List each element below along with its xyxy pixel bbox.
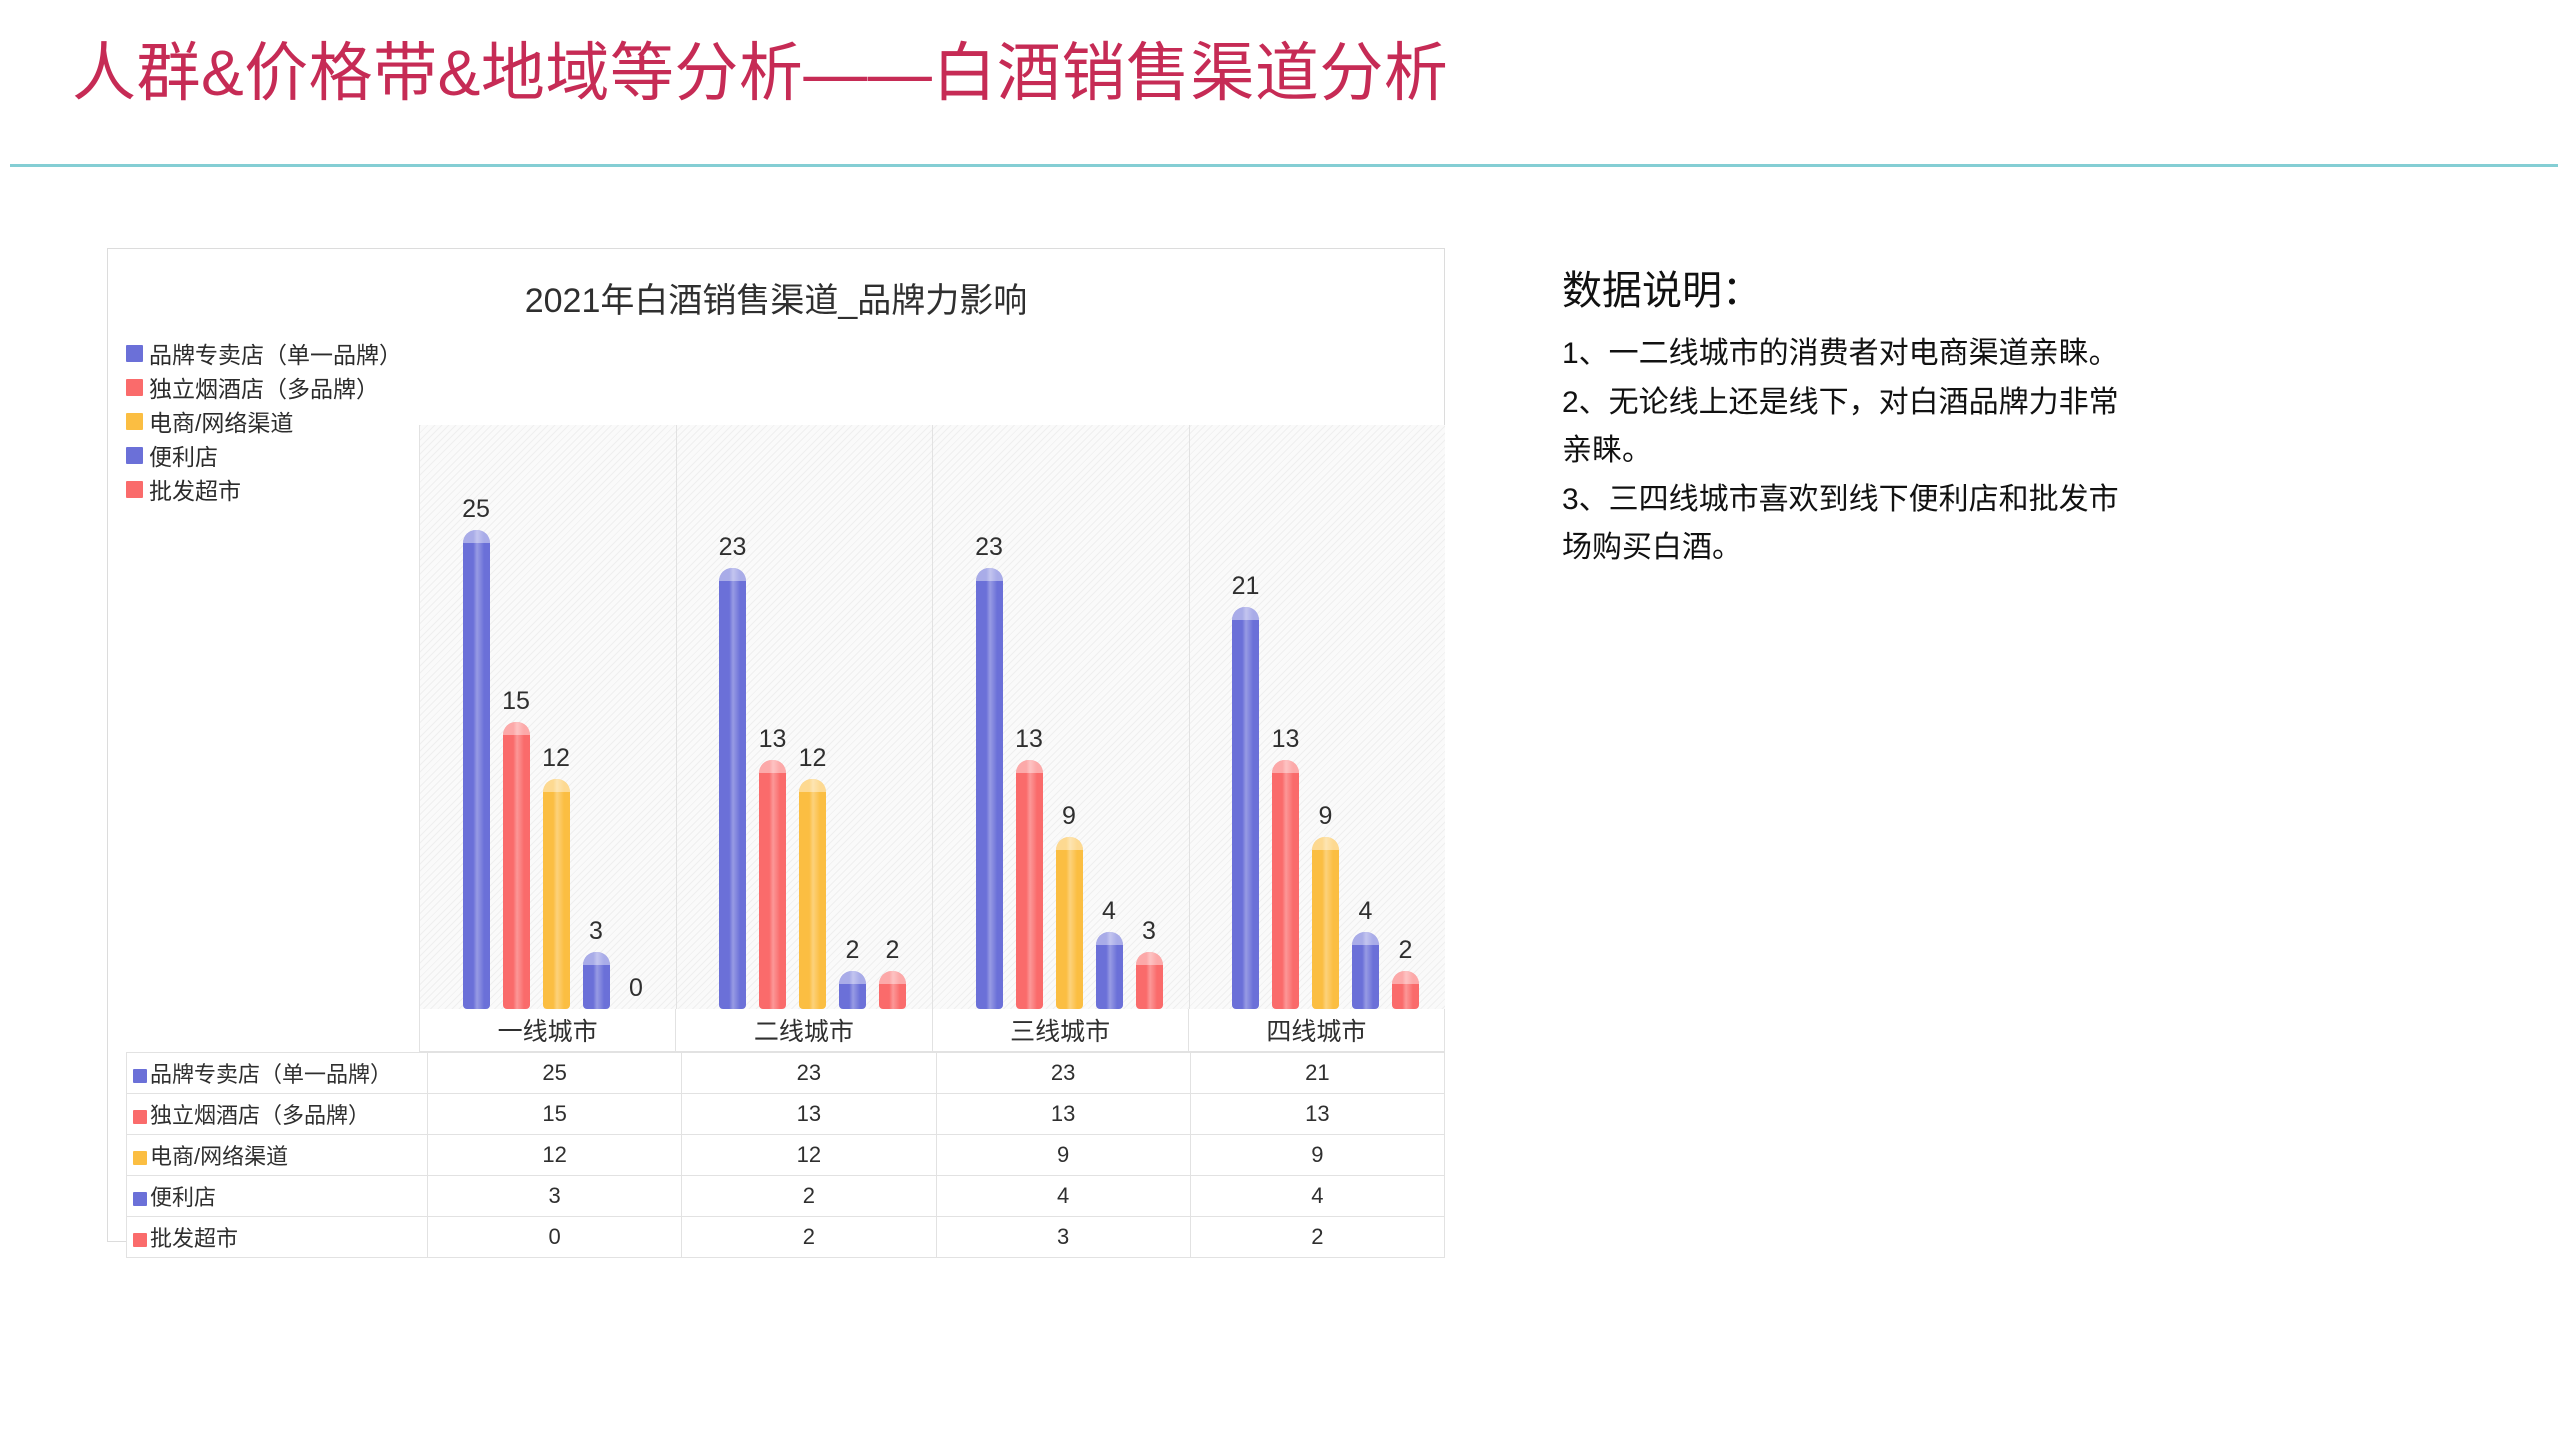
category-axis-label: 四线城市	[1189, 1009, 1444, 1051]
chart-bar[interactable]: 25	[463, 530, 490, 1009]
table-cell: 13	[1190, 1094, 1444, 1135]
data-table-body: 品牌专卖店（单一品牌）25232321独立烟酒店（多品牌）15131313电商/…	[127, 1053, 1445, 1258]
legend-item-label: 独立烟酒店（多品牌）	[149, 370, 379, 404]
chart-bar-slot: 23	[713, 425, 753, 1009]
table-row-swatch-icon	[133, 1110, 147, 1124]
chart-bar[interactable]: 13	[1016, 760, 1043, 1009]
chart-bar-slot: 13	[1266, 425, 1306, 1009]
chart-bar-slot: 2	[1386, 425, 1426, 1009]
chart-bar-slot: 3	[576, 425, 616, 1009]
table-cell: 23	[936, 1053, 1190, 1094]
chart-bar-value: 3	[589, 917, 603, 946]
notes-heading: 数据说明：	[1562, 258, 2142, 316]
chart-bar-value: 25	[462, 495, 490, 524]
legend-swatch-icon	[126, 447, 143, 464]
chart-bar[interactable]: 12	[799, 779, 826, 1009]
chart-bar-value: 3	[1142, 917, 1156, 946]
notes-body: 1、一二线城市的消费者对电商渠道亲睐。2、无论线上还是线下，对白酒品牌力非常亲睐…	[1562, 330, 2142, 573]
table-cell: 13	[682, 1094, 936, 1135]
table-row-swatch-icon	[133, 1069, 147, 1083]
table-row: 批发超市0232	[127, 1217, 1445, 1258]
chart-bar-slot: 13	[1009, 425, 1049, 1009]
table-cell: 23	[682, 1053, 936, 1094]
note-line: 1、一二线城市的消费者对电商渠道亲睐。	[1562, 330, 2142, 379]
chart-bar-slot: 2	[873, 425, 913, 1009]
category-axis-label: 一线城市	[420, 1009, 676, 1051]
legend-item[interactable]: 品牌专卖店（单一品牌）	[126, 336, 416, 370]
chart-bar-slot: 13	[753, 425, 793, 1009]
chart-bar[interactable]: 12	[543, 779, 570, 1009]
chart-bar-value: 4	[1359, 897, 1373, 926]
chart-bar-slot: 21	[1226, 425, 1266, 1009]
chart-bar-value: 9	[1319, 802, 1333, 831]
chart-bar-value: 13	[1272, 725, 1300, 754]
chart-card[interactable]: 2021年白酒销售渠道_品牌力影响 品牌专卖店（单一品牌）独立烟酒店（多品牌）电…	[107, 248, 1445, 1242]
chart-bar[interactable]: 2	[879, 971, 906, 1009]
table-row-swatch-icon	[133, 1233, 147, 1247]
table-cell: 4	[1190, 1176, 1444, 1217]
table-row-header: 批发超市	[127, 1217, 428, 1258]
chart-bar-value: 21	[1232, 572, 1260, 601]
legend-swatch-icon	[126, 413, 143, 430]
chart-group: 2113942	[1190, 425, 1446, 1009]
chart-bar[interactable]: 13	[1272, 760, 1299, 1009]
chart-bar[interactable]: 3	[1136, 952, 1163, 1009]
chart-bar-value: 13	[759, 725, 787, 754]
chart-title: 2021年白酒销售渠道_品牌力影响	[108, 273, 1444, 322]
legend-swatch-icon	[126, 345, 143, 362]
table-row-header: 独立烟酒店（多品牌）	[127, 1094, 428, 1135]
chart-category-axis: 一线城市二线城市三线城市四线城市	[419, 1009, 1445, 1052]
chart-bar-slot: 4	[1346, 425, 1386, 1009]
table-cell: 12	[428, 1135, 682, 1176]
table-cell: 13	[936, 1094, 1190, 1135]
table-row-swatch-icon	[133, 1192, 147, 1206]
chart-bar-value: 23	[719, 533, 747, 562]
table-cell: 25	[428, 1053, 682, 1094]
chart-bar-slot: 12	[793, 425, 833, 1009]
chart-bar-slot: 23	[969, 425, 1009, 1009]
table-row: 独立烟酒店（多品牌）15131313	[127, 1094, 1445, 1135]
notes-panel: 数据说明： 1、一二线城市的消费者对电商渠道亲睐。2、无论线上还是线下，对白酒品…	[1562, 258, 2142, 573]
category-axis-label: 二线城市	[676, 1009, 932, 1051]
legend-item[interactable]: 批发超市	[126, 472, 416, 506]
chart-bar[interactable]: 3	[583, 952, 610, 1009]
chart-bar-slot: 9	[1049, 425, 1089, 1009]
chart-bar[interactable]: 9	[1312, 837, 1339, 1009]
table-cell: 2	[1190, 1217, 1444, 1258]
chart-bar[interactable]: 23	[976, 568, 1003, 1009]
legend-item-label: 批发超市	[149, 472, 241, 506]
chart-bar-slot: 15	[496, 425, 536, 1009]
table-row: 便利店3244	[127, 1176, 1445, 1217]
chart-bar-value: 9	[1062, 802, 1076, 831]
chart-bar-value: 2	[886, 936, 900, 965]
chart-bar-slot: 12	[536, 425, 576, 1009]
table-row-swatch-icon	[133, 1151, 147, 1165]
table-cell: 0	[428, 1217, 682, 1258]
legend-item-label: 便利店	[149, 438, 218, 472]
table-cell: 2	[682, 1176, 936, 1217]
legend-item[interactable]: 便利店	[126, 438, 416, 472]
chart-plot-area: 251512302313122223139432113942	[419, 425, 1445, 1009]
note-line: 2、无论线上还是线下，对白酒品牌力非常亲睐。	[1562, 379, 2142, 476]
chart-data-table: 品牌专卖店（单一品牌）25232321独立烟酒店（多品牌）15131313电商/…	[126, 1052, 1445, 1258]
chart-bar-value: 4	[1102, 897, 1116, 926]
table-cell: 9	[1190, 1135, 1444, 1176]
table-cell: 9	[936, 1135, 1190, 1176]
chart-bar-slot: 4	[1089, 425, 1129, 1009]
chart-bar-value: 12	[799, 744, 827, 773]
chart-bar[interactable]: 4	[1096, 932, 1123, 1009]
chart-bar-slot: 25	[456, 425, 496, 1009]
chart-bar-value: 0	[629, 974, 643, 1003]
chart-bar[interactable]: 9	[1056, 837, 1083, 1009]
legend-item[interactable]: 独立烟酒店（多品牌）	[126, 370, 416, 404]
table-row-header: 品牌专卖店（单一品牌）	[127, 1053, 428, 1094]
chart-bar[interactable]: 2	[839, 971, 866, 1009]
chart-bar[interactable]: 2	[1392, 971, 1419, 1009]
table-row-header: 便利店	[127, 1176, 428, 1217]
legend-item-label: 电商/网络渠道	[149, 404, 293, 438]
title-divider	[10, 164, 2558, 167]
chart-bar[interactable]: 4	[1352, 932, 1379, 1009]
chart-legend: 品牌专卖店（单一品牌）独立烟酒店（多品牌）电商/网络渠道便利店批发超市	[126, 336, 416, 506]
chart-bar-value: 23	[975, 533, 1003, 562]
category-axis-label: 三线城市	[933, 1009, 1189, 1051]
chart-bar-slot: 0	[616, 425, 656, 1009]
table-cell: 15	[428, 1094, 682, 1135]
page-title: 人群&价格带&地域等分析——白酒销售渠道分析	[72, 38, 1448, 108]
table-row: 品牌专卖店（单一品牌）25232321	[127, 1053, 1445, 1094]
chart-bar-value: 15	[502, 687, 530, 716]
table-cell: 3	[428, 1176, 682, 1217]
chart-bar-slot: 2	[833, 425, 873, 1009]
note-line: 3、三四线城市喜欢到线下便利店和批发市场购买白酒。	[1562, 476, 2142, 573]
chart-bar-slot: 9	[1306, 425, 1346, 1009]
chart-bar-slot: 3	[1129, 425, 1169, 1009]
table-cell: 3	[936, 1217, 1190, 1258]
table-cell: 2	[682, 1217, 936, 1258]
table-cell: 4	[936, 1176, 1190, 1217]
legend-item-label: 品牌专卖店（单一品牌）	[149, 336, 402, 370]
legend-swatch-icon	[126, 379, 143, 396]
legend-swatch-icon	[126, 481, 143, 498]
chart-bar[interactable]: 21	[1232, 607, 1259, 1009]
chart-bar-value: 12	[542, 744, 570, 773]
chart-group: 25151230	[420, 425, 677, 1009]
chart-group: 2313943	[933, 425, 1190, 1009]
table-row-header: 电商/网络渠道	[127, 1135, 428, 1176]
table-cell: 21	[1190, 1053, 1444, 1094]
table-row: 电商/网络渠道121299	[127, 1135, 1445, 1176]
legend-item[interactable]: 电商/网络渠道	[126, 404, 416, 438]
chart-bar[interactable]: 13	[759, 760, 786, 1009]
chart-bar[interactable]: 15	[503, 722, 530, 1009]
table-cell: 12	[682, 1135, 936, 1176]
chart-bar[interactable]: 23	[719, 568, 746, 1009]
chart-group: 23131222	[677, 425, 934, 1009]
chart-bar-value: 13	[1015, 725, 1043, 754]
chart-bar-value: 2	[846, 936, 860, 965]
chart-bar-value: 2	[1399, 936, 1413, 965]
